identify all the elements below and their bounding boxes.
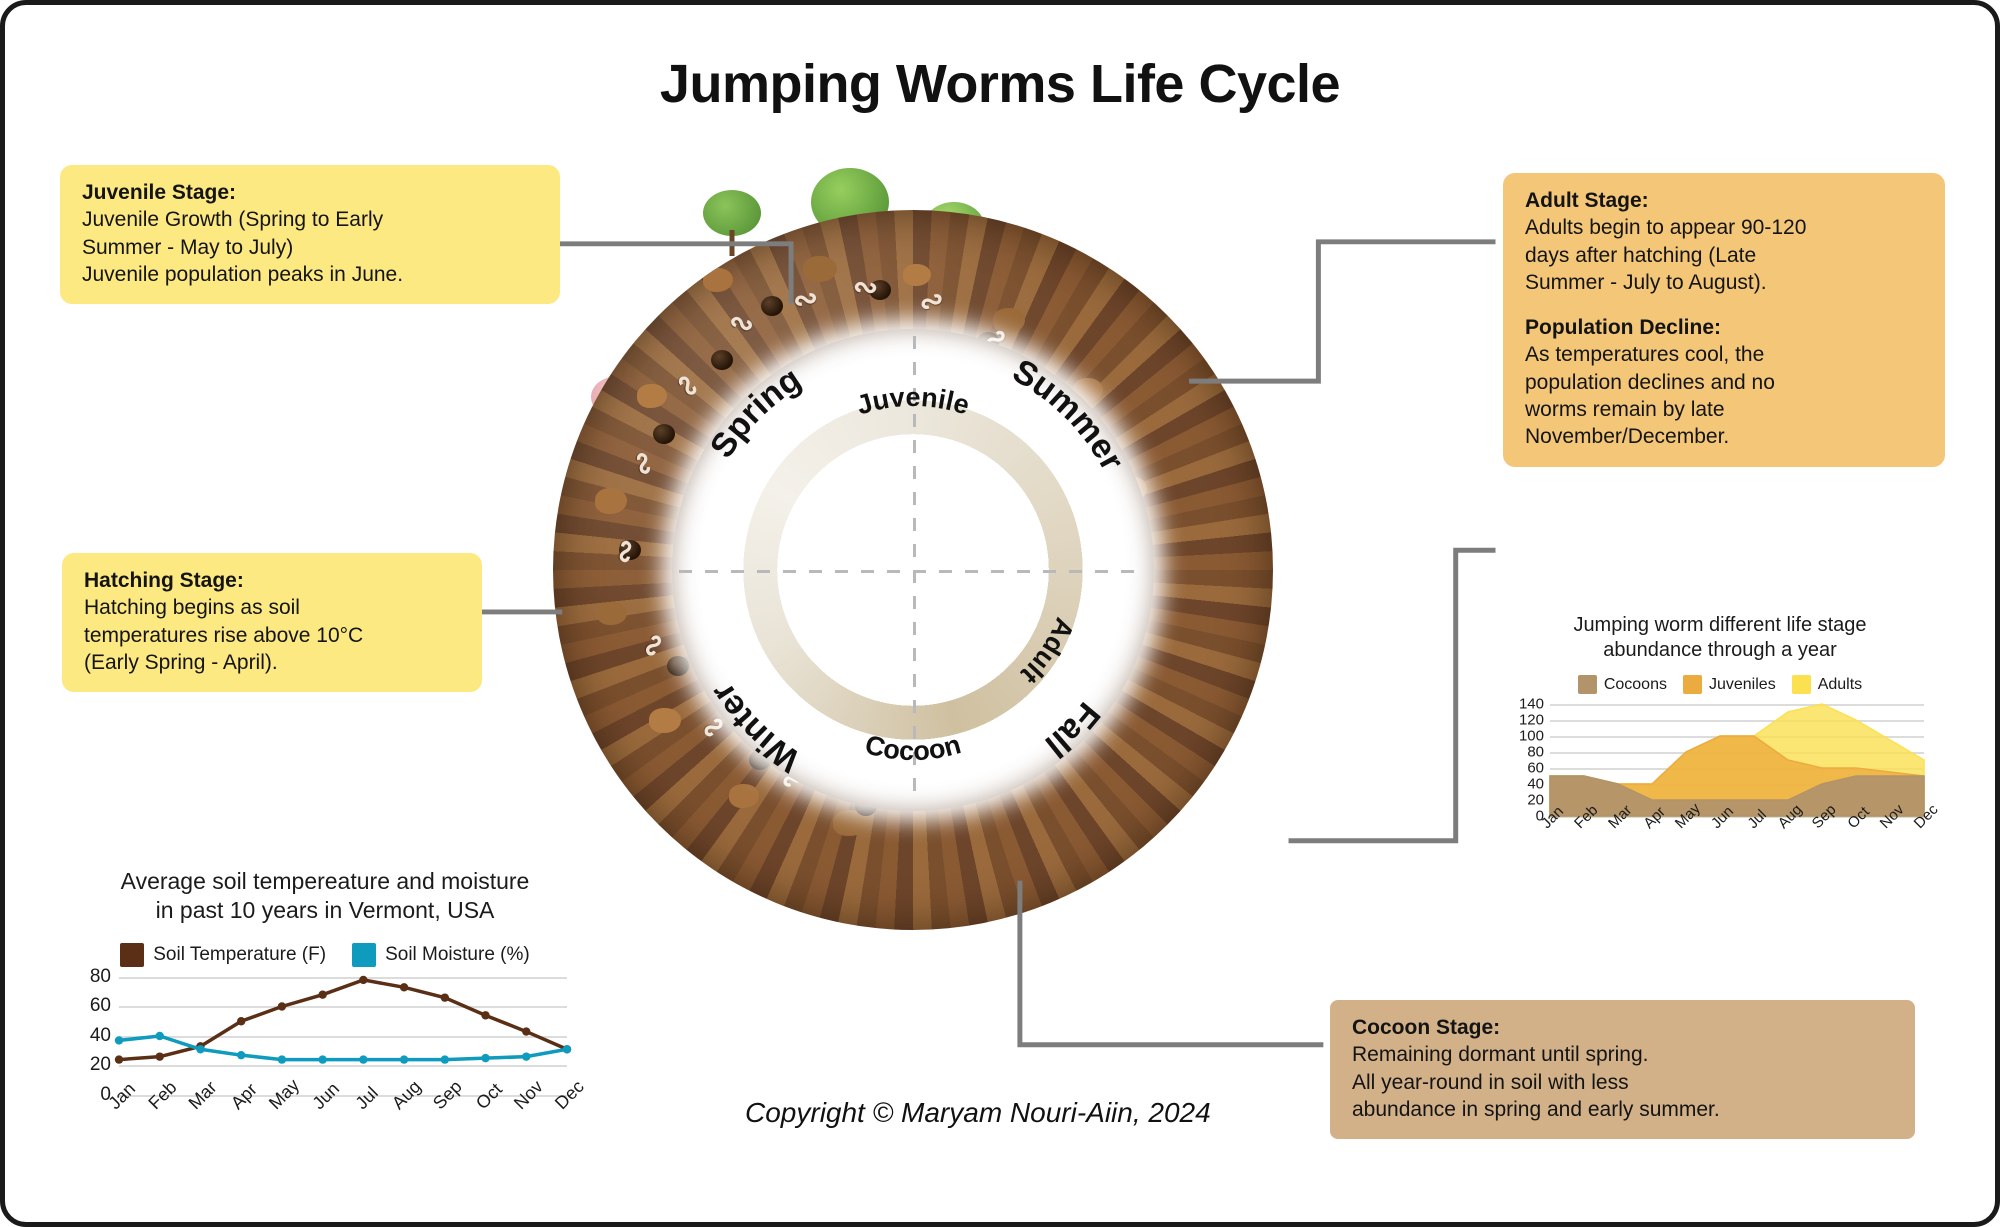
callout-body: Hatching begins as soil temperatures ris… xyxy=(84,594,462,676)
callout-heading: Hatching Stage: xyxy=(84,567,462,594)
data-point xyxy=(156,1032,164,1040)
legend-label: Juveniles xyxy=(1709,676,1776,694)
callout-body-secondary: As temperatures cool, the population dec… xyxy=(1525,341,1925,450)
legend-swatch-adults xyxy=(1792,675,1811,694)
data-point xyxy=(563,1045,571,1053)
connector-abundance xyxy=(1289,550,1496,841)
stage-label-cocoon: Cocoon xyxy=(862,729,964,766)
data-point xyxy=(115,1036,123,1044)
chart-title: Jumping worm different life stage abunda… xyxy=(1510,613,1930,663)
y-axis-tick: 140 xyxy=(1519,696,1544,713)
callout-heading: Cocoon Stage: xyxy=(1352,1014,1895,1041)
callout-body: Adults begin to appear 90-120 days after… xyxy=(1525,214,1925,296)
callout-heading: Adult Stage: xyxy=(1525,187,1925,214)
legend-swatch-juveniles xyxy=(1683,675,1702,694)
season-label-spring: Spring xyxy=(703,360,808,465)
y-axis-tick: 40 xyxy=(90,1025,111,1047)
data-point xyxy=(115,1055,123,1063)
stage-label-juvenile: Juvenile xyxy=(853,382,973,420)
legend-label: Soil Temperature (F) xyxy=(153,944,326,966)
callout-heading-secondary: Population Decline: xyxy=(1525,314,1925,341)
legend-label: Soil Moisture (%) xyxy=(385,944,530,966)
season-label-winter: Winter xyxy=(703,676,807,779)
callout-hatching-stage: Hatching Stage: Hatching begins as soil … xyxy=(62,553,482,692)
soil-temperature-moisture-chart: Average soil tempereature and moisture i… xyxy=(75,867,575,1147)
callout-body: Remaining dormant until spring. All year… xyxy=(1352,1041,1895,1123)
data-point xyxy=(359,976,367,984)
chart-legend: Cocoons Juveniles Adults xyxy=(1510,675,1930,694)
data-point xyxy=(278,1055,286,1063)
stage-label-adult: Adult xyxy=(1015,614,1080,690)
season-label-fall: Fall xyxy=(1038,695,1107,765)
data-point xyxy=(237,1017,245,1025)
legend-swatch-cocoons xyxy=(1578,675,1597,694)
infographic-poster: Jumping Worms Life Cycle xyxy=(0,0,2000,1227)
data-point xyxy=(441,1055,449,1063)
wheel-labels: Spring Summer Fall Winter Juvenile Adult… xyxy=(553,210,1273,930)
y-axis-tick: 100 xyxy=(1519,728,1544,745)
data-point xyxy=(318,990,326,998)
series-paths xyxy=(1550,704,1924,816)
y-axis-tick: 80 xyxy=(90,966,111,988)
data-point xyxy=(359,1055,367,1063)
callout-body: Juvenile Growth (Spring to Early Summer … xyxy=(82,206,540,288)
y-axis-tick: 40 xyxy=(1527,776,1544,793)
data-point xyxy=(522,1052,530,1060)
chart-legend: Soil Temperature (F) Soil Moisture (%) xyxy=(75,943,575,967)
copyright-notice: Copyright © Maryam Nouri-Aiin, 2024 xyxy=(745,1097,1211,1129)
data-point xyxy=(481,1011,489,1019)
callout-heading: Juvenile Stage: xyxy=(82,179,540,206)
plot-area: 020406080 JanFebMarAprMayJunJulAugSepOct… xyxy=(119,977,567,1095)
season-label-summer: Summer xyxy=(1006,352,1131,477)
plot-area: 020406080100120140 JanFebMarAprMayJunJul… xyxy=(1550,704,1924,816)
y-axis-tick: 60 xyxy=(1527,760,1544,777)
legend-item: Cocoons xyxy=(1578,675,1667,694)
y-axis-tick: 20 xyxy=(1527,792,1544,809)
data-point xyxy=(400,983,408,991)
data-point xyxy=(481,1054,489,1062)
legend-item: Juveniles xyxy=(1683,675,1776,694)
data-point xyxy=(318,1055,326,1063)
y-axis-tick: 60 xyxy=(90,995,111,1017)
data-point xyxy=(278,1002,286,1010)
legend-label: Adults xyxy=(1818,676,1862,694)
y-axis-tick: 80 xyxy=(1527,744,1544,761)
legend-item: Soil Temperature (F) xyxy=(120,943,326,967)
data-point xyxy=(400,1055,408,1063)
y-axis-tick: 120 xyxy=(1519,712,1544,729)
life-cycle-wheel: ∾ ∾ ∾ ∾ ∾ ∾ ∾ ∾ ∾ ∾ ∾ ∾ ∾ ∾ ∾ ∾ ∾ ∾ ∿ ∿ xyxy=(553,210,1273,930)
line-series-soil temperature (f) xyxy=(119,980,567,1060)
data-point xyxy=(522,1027,530,1035)
line-series-soil moisture (%) xyxy=(119,1036,567,1060)
callout-adult-stage: Adult Stage: Adults begin to appear 90-1… xyxy=(1503,173,1945,467)
y-axis-tick: 20 xyxy=(90,1054,111,1076)
data-point xyxy=(441,993,449,1001)
x-axis: JanFebMarAprMayJunJulAugSepOctNovDec xyxy=(119,1095,567,1149)
legend-swatch-soil-temperature xyxy=(120,943,144,967)
legend-item: Adults xyxy=(1792,675,1862,694)
page-title: Jumping Worms Life Cycle xyxy=(5,53,1995,115)
life-stage-abundance-chart: Jumping worm different life stage abunda… xyxy=(1510,613,1930,903)
legend-item: Soil Moisture (%) xyxy=(352,943,530,967)
x-axis: JanFebMarAprMayJunJulAugSepOctNovDec xyxy=(1550,816,1924,870)
legend-label: Cocoons xyxy=(1604,676,1667,694)
callout-juvenile-stage: Juvenile Stage: Juvenile Growth (Spring … xyxy=(60,165,560,304)
series-paths xyxy=(119,977,567,1095)
data-point xyxy=(237,1051,245,1059)
legend-swatch-soil-moisture xyxy=(352,943,376,967)
data-point xyxy=(196,1045,204,1053)
chart-title: Average soil tempereature and moisture i… xyxy=(75,867,575,925)
callout-cocoon-stage: Cocoon Stage: Remaining dormant until sp… xyxy=(1330,1000,1915,1139)
data-point xyxy=(156,1052,164,1060)
